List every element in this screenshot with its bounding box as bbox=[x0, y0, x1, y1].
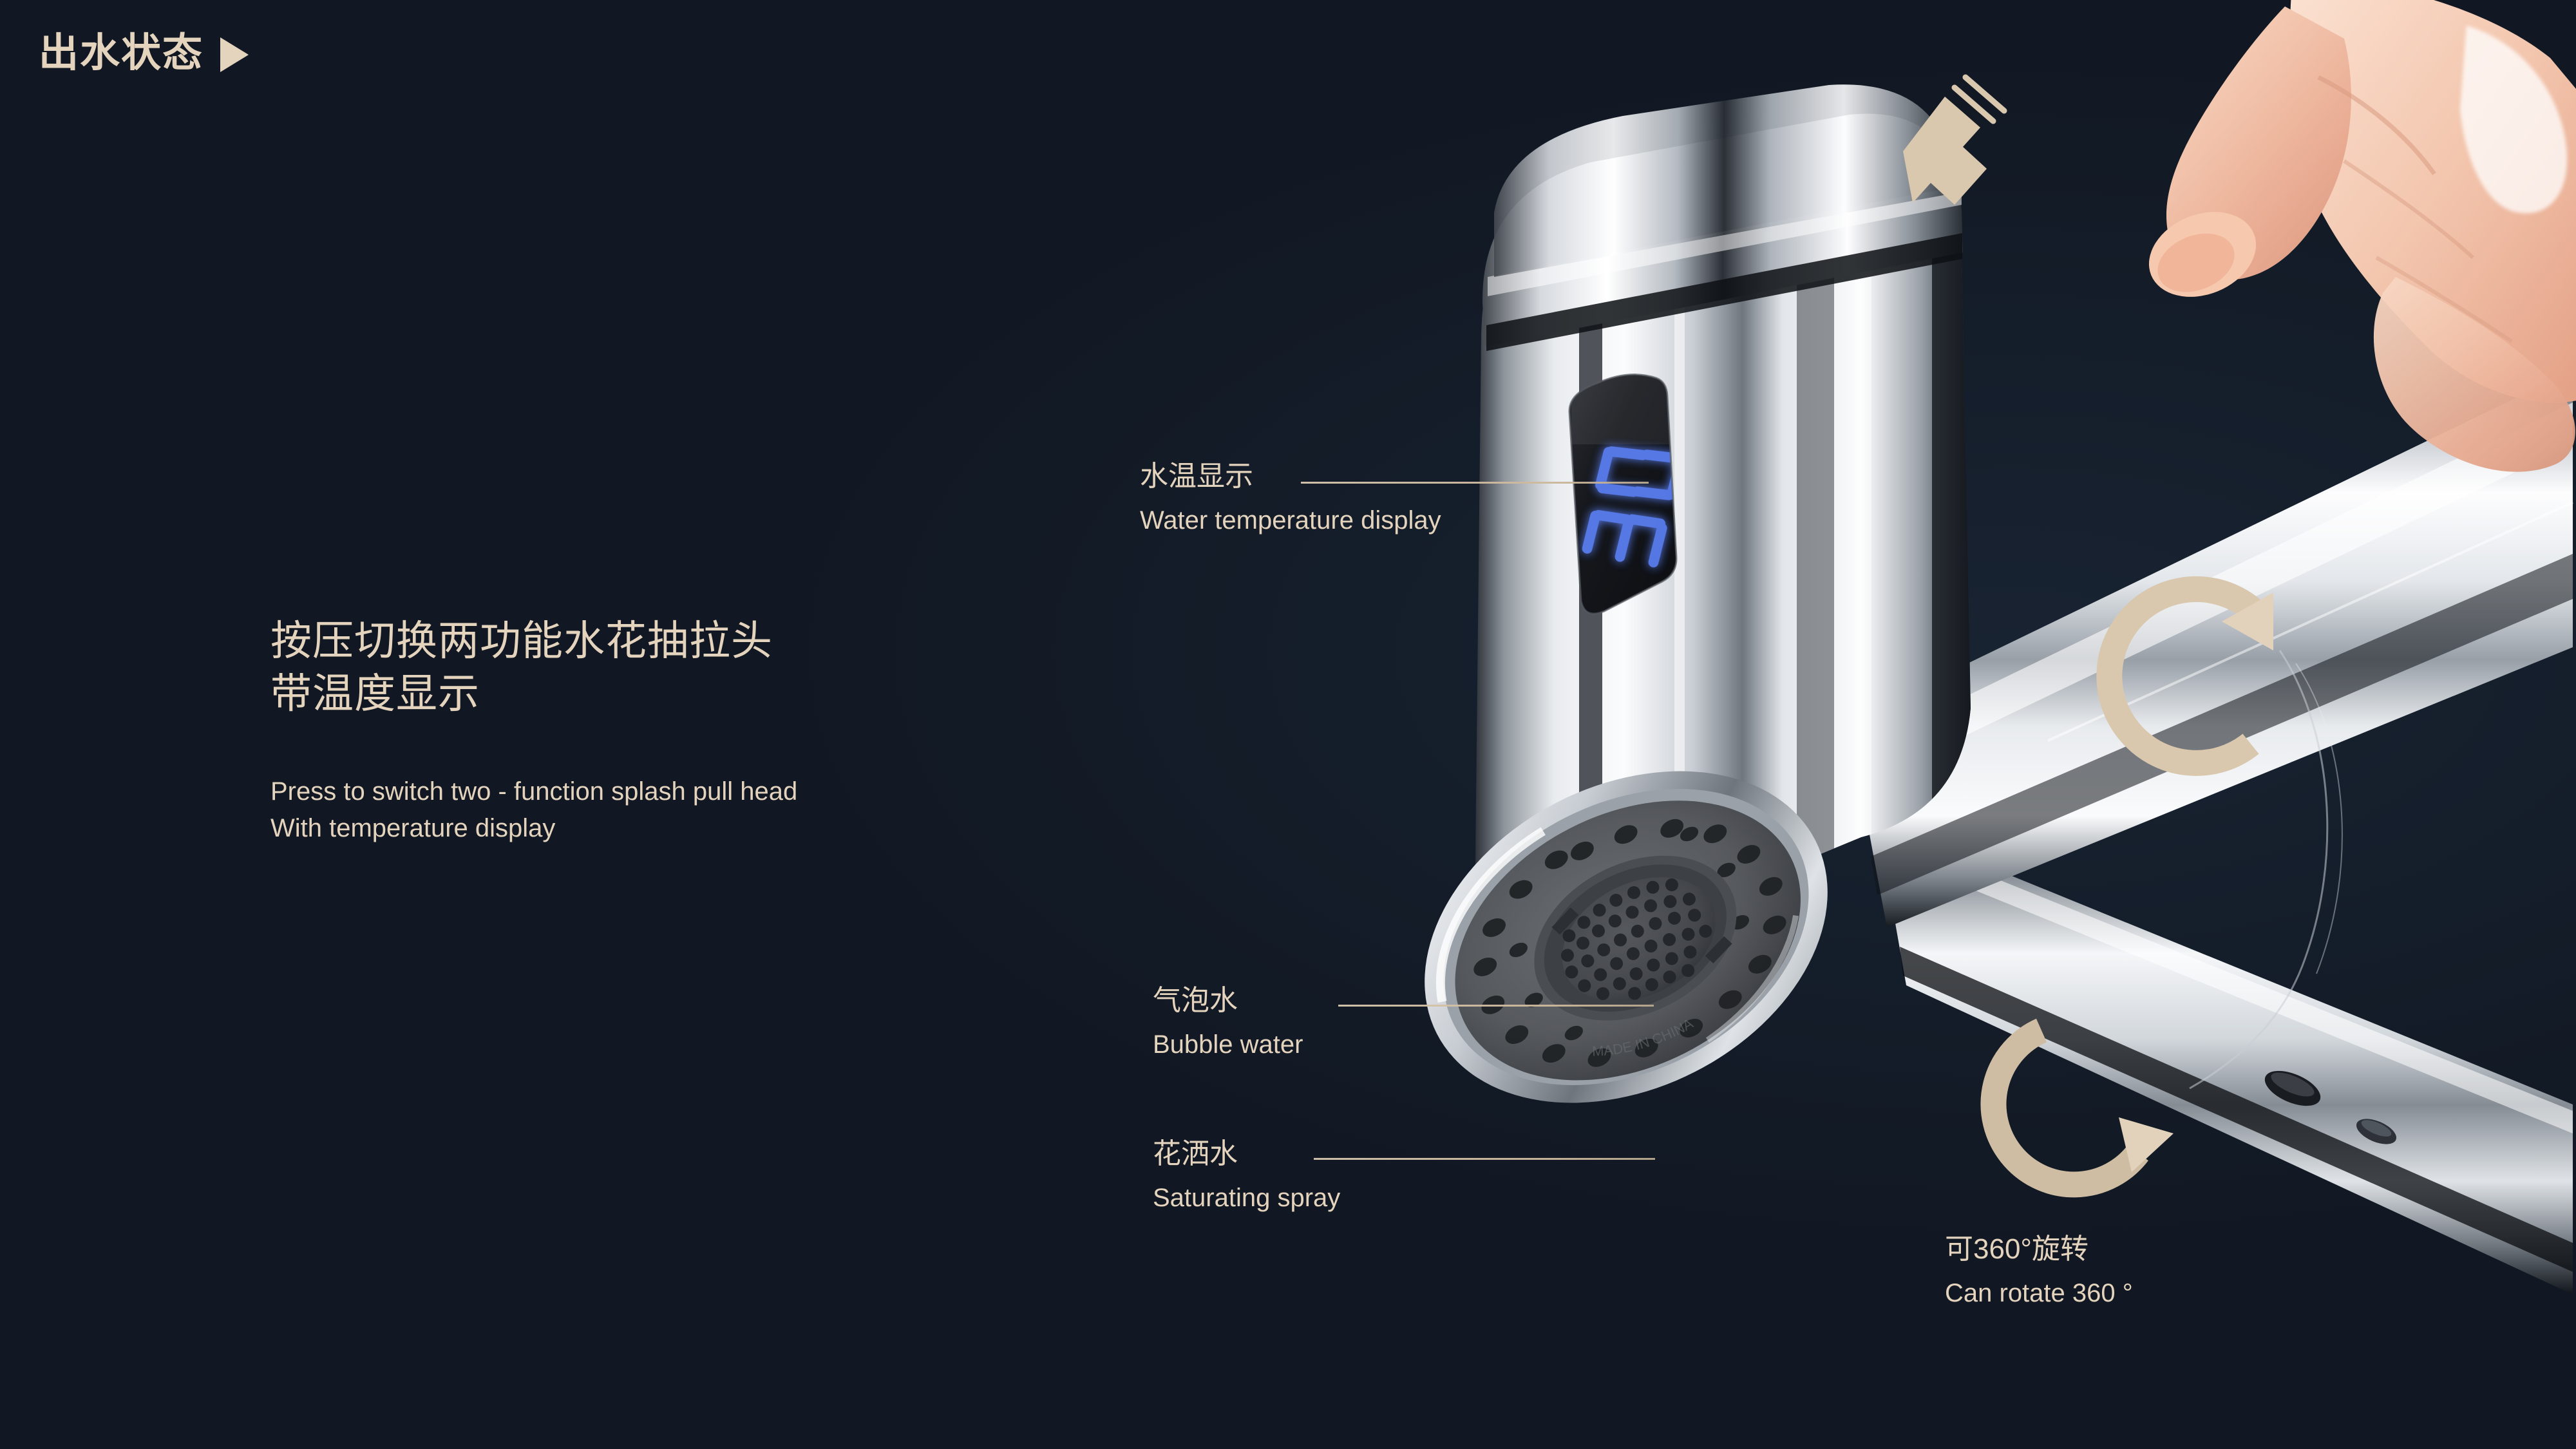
slide-canvas: MADE IN CHINA bbox=[0, 0, 2576, 1449]
leader-line-saturating-spray bbox=[1314, 1158, 1655, 1160]
callout-zh: 花洒水 bbox=[1153, 1140, 1340, 1168]
press-down-arrow-icon bbox=[1903, 77, 2004, 205]
callout-water-temperature-display: 水温显示 Water temperature display bbox=[1140, 462, 1441, 533]
callout-en: Can rotate 360 ° bbox=[1945, 1280, 2133, 1306]
faucet-lower-arm bbox=[1877, 821, 2573, 1294]
headline-zh-line2: 带温度显示 bbox=[270, 668, 797, 721]
headline-en: Press to switch two - function splash pu… bbox=[270, 773, 797, 847]
callout-en: Water temperature display bbox=[1140, 507, 1441, 533]
leader-line-temperature bbox=[1301, 482, 1649, 484]
callout-zh: 水温显示 bbox=[1140, 462, 1441, 491]
page-title: 出水状态 bbox=[39, 33, 204, 73]
hand bbox=[2136, 0, 2576, 472]
header: 出水状态 bbox=[39, 33, 249, 73]
callout-en: Bubble water bbox=[1153, 1032, 1303, 1057]
callout-rotate-360: 可360°旋转 Can rotate 360 ° bbox=[1945, 1235, 2133, 1306]
play-triangle-icon bbox=[220, 37, 249, 72]
headline-en-line2: With temperature display bbox=[270, 810, 797, 847]
headline-zh-line1: 按压切换两功能水花抽拉头 bbox=[270, 615, 797, 668]
leader-line-bubble-water bbox=[1338, 1005, 1654, 1007]
callout-zh: 可360°旋转 bbox=[1945, 1235, 2133, 1264]
headline-block: 按压切换两功能水花抽拉头 带温度显示 Press to switch two -… bbox=[270, 615, 797, 846]
callout-en: Saturating spray bbox=[1153, 1185, 1340, 1211]
headline-en-line1: Press to switch two - function splash pu… bbox=[270, 773, 797, 810]
callout-saturating-spray: 花洒水 Saturating spray bbox=[1153, 1140, 1340, 1211]
callout-bubble-water: 气泡水 Bubble water bbox=[1153, 987, 1303, 1057]
callout-zh: 气泡水 bbox=[1153, 987, 1303, 1015]
